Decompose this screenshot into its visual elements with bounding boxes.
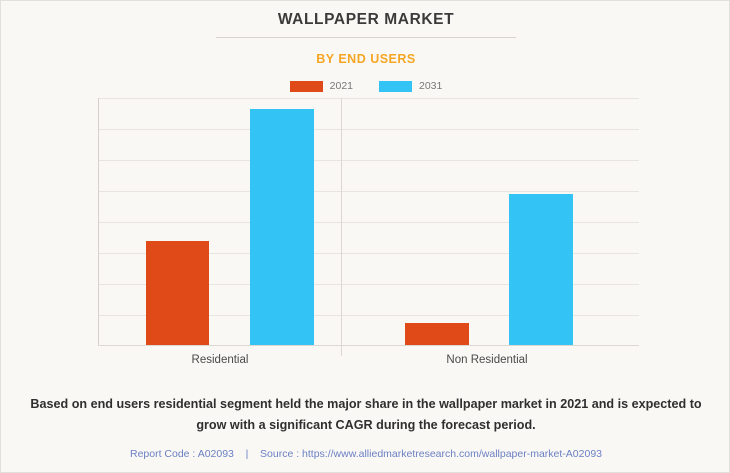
x-axis-label-non-residential: Non Residential [387,354,587,366]
gridline [98,98,639,99]
report-code: Report Code : A02093 [130,448,234,460]
source-link[interactable]: Source : https://www.alliedmarketresearc… [260,448,602,460]
page-title: WALLPAPER MARKET [1,11,730,29]
bar-non-residential-2021[interactable] [405,323,469,345]
x-axis-label-residential: Residential [120,354,320,366]
footer-separator: | [246,448,249,460]
bar-non-residential-2031[interactable] [509,194,573,345]
chart-footer: Report Code : A02093 | Source : https://… [1,448,730,460]
gridline [98,129,639,130]
gridline [98,191,639,192]
legend-item-2031[interactable]: 2031 [379,80,442,92]
x-axis-line [98,345,639,346]
bar-residential-2021[interactable] [146,241,209,345]
chart-subtitle: BY END USERS [1,52,730,66]
legend-item-2021[interactable]: 2021 [290,80,353,92]
legend-swatch-icon [290,81,323,92]
bar-residential-2031[interactable] [250,109,314,345]
legend-label: 2031 [419,80,442,92]
legend-label: 2021 [330,80,353,92]
chart-card: WALLPAPER MARKET BY END USERS 2021 2031 … [0,0,730,473]
y-axis-line [98,98,99,346]
plot-area: Residential Non Residential [98,98,639,346]
title-divider [216,37,516,38]
legend-swatch-icon [379,81,412,92]
chart-caption: Based on end users residential segment h… [29,394,703,436]
category-divider [341,98,342,356]
chart-legend: 2021 2031 [1,80,730,92]
gridline [98,160,639,161]
